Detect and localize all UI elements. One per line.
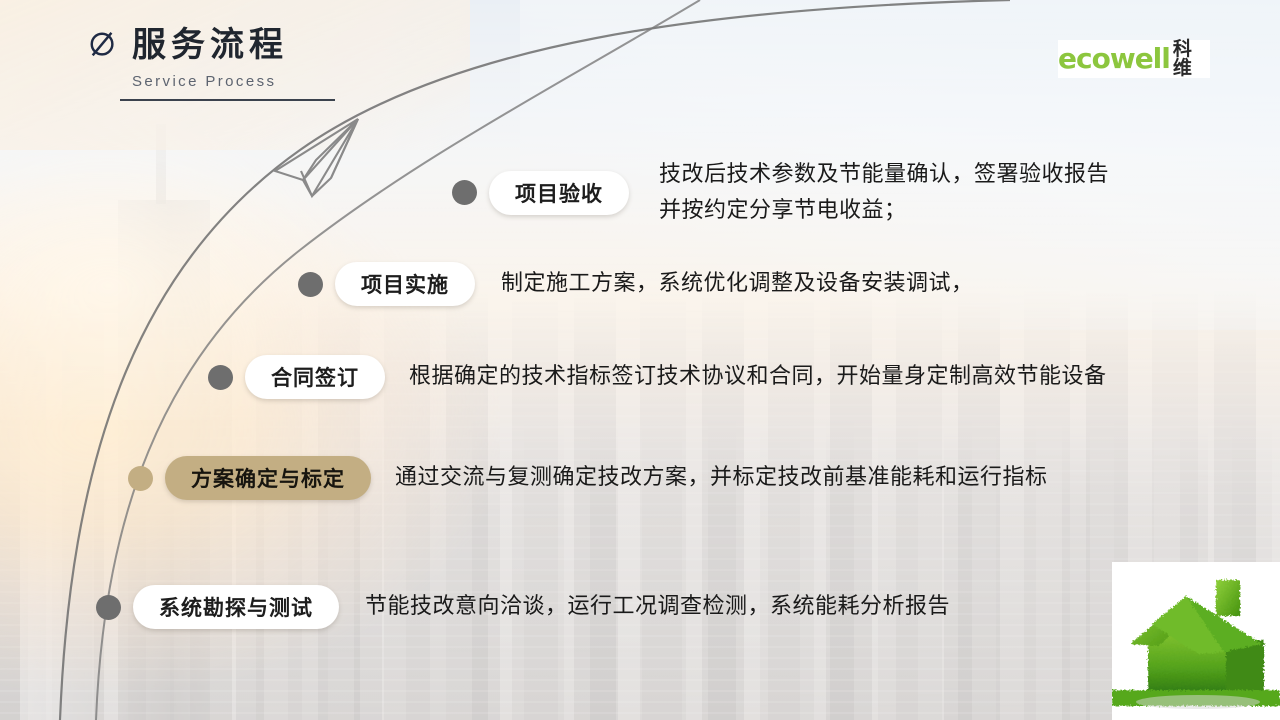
step-description: 通过交流与复测确定技改方案，并标定技改前基准能耗和运行指标 bbox=[395, 460, 1048, 496]
logo-chinese-name: 科维 bbox=[1173, 40, 1210, 78]
process-step-plan-confirmation-and-calibration[interactable]: 方案确定与标定 通过交流与复测确定技改方案，并标定技改前基准能耗和运行指标 bbox=[128, 456, 1048, 500]
step-description-line: 技改后技术参数及节能量确认，签署验收报告 bbox=[659, 157, 1109, 193]
step-description: 技改后技术参数及节能量确认，签署验收报告 并按约定分享节电收益； bbox=[659, 157, 1109, 228]
step-description: 根据确定的技术指标签订技术协议和合同，开始量身定制高效节能设备 bbox=[409, 359, 1107, 395]
process-step-system-survey-and-testing[interactable]: 系统勘探与测试 节能技改意向洽谈，运行工况调查检测，系统能耗分析报告 bbox=[96, 585, 950, 629]
step-marker-dot bbox=[452, 180, 477, 205]
process-step-contract-signing[interactable]: 合同签订 根据确定的技术指标签订技术协议和合同，开始量身定制高效节能设备 bbox=[208, 355, 1107, 399]
company-logo: ecowell 科维 bbox=[1058, 40, 1210, 78]
step-description: 节能技改意向洽谈，运行工况调查检测，系统能耗分析报告 bbox=[365, 589, 950, 625]
green-grass-house-image bbox=[1112, 562, 1280, 720]
process-step-project-acceptance[interactable]: 项目验收 技改后技术参数及节能量确认，签署验收报告 并按约定分享节电收益； bbox=[452, 157, 1109, 228]
step-description-line: 通过交流与复测确定技改方案，并标定技改前基准能耗和运行指标 bbox=[395, 460, 1048, 496]
step-description-line: 节能技改意向洽谈，运行工况调查检测，系统能耗分析报告 bbox=[365, 589, 950, 625]
step-description-line: 根据确定的技术指标签订技术协议和合同，开始量身定制高效节能设备 bbox=[409, 359, 1107, 395]
diameter-slash-icon bbox=[88, 30, 118, 60]
step-label-pill[interactable]: 合同签订 bbox=[245, 355, 385, 399]
title-underline bbox=[120, 99, 335, 101]
step-label-pill[interactable]: 项目实施 bbox=[335, 262, 475, 306]
page-title: 服务流程 bbox=[132, 28, 288, 62]
step-marker-dot bbox=[208, 365, 233, 390]
step-description-line: 并按约定分享节电收益； bbox=[659, 193, 1109, 229]
step-marker-dot bbox=[298, 272, 323, 297]
step-marker-dot bbox=[96, 595, 121, 620]
step-label-pill-active[interactable]: 方案确定与标定 bbox=[165, 456, 371, 500]
logo-wordmark: ecowell bbox=[1058, 45, 1170, 73]
page-subtitle: Service Process bbox=[132, 73, 335, 90]
slide-canvas: 服务流程 Service Process ecowell 科维 项目验收 技改后… bbox=[0, 0, 1280, 720]
paper-plane-icon bbox=[275, 119, 358, 196]
page-title-block: 服务流程 Service Process bbox=[88, 28, 335, 101]
process-step-project-implementation[interactable]: 项目实施 制定施工方案，系统优化调整及设备安装调试， bbox=[298, 262, 974, 306]
step-marker-dot-active bbox=[128, 466, 153, 491]
step-label-pill[interactable]: 项目验收 bbox=[489, 171, 629, 215]
step-description-line: 制定施工方案，系统优化调整及设备安装调试， bbox=[501, 266, 974, 302]
step-description: 制定施工方案，系统优化调整及设备安装调试， bbox=[501, 266, 974, 302]
step-label-pill[interactable]: 系统勘探与测试 bbox=[133, 585, 339, 629]
